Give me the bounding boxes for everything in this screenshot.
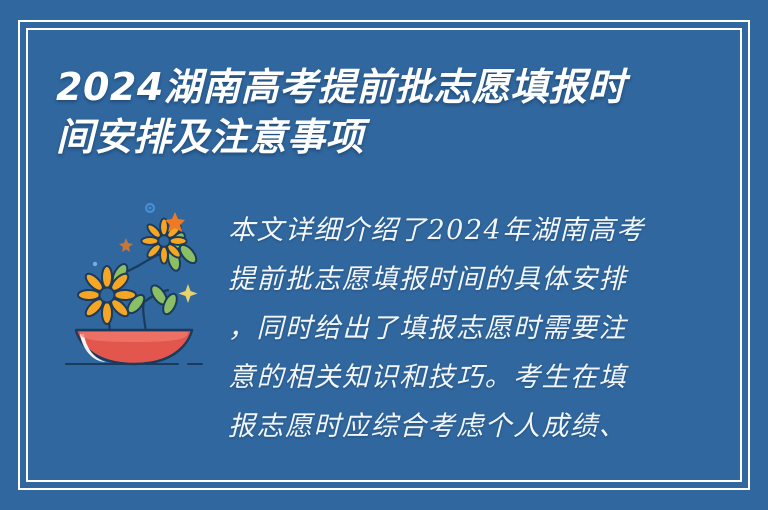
body-line-4: 意的相关知识和技巧。考生在填 <box>228 353 648 402</box>
body-line-1: 本文详细介绍了2024年湖南高考 <box>228 206 648 255</box>
page-title: 2024湖南高考提前批志愿填报时 间安排及注意事项 <box>56 62 656 162</box>
title-line-1: 2024湖南高考提前批志愿填报时 <box>56 62 656 112</box>
body-line-3: ，同时给出了填报志愿时需要注 <box>228 304 648 353</box>
poster-canvas: 2024湖南高考提前批志愿填报时 间安排及注意事项 <box>0 0 768 510</box>
potted-flowers-illustration <box>62 192 222 372</box>
body-line-2: 提前批志愿填报时间的具体安排 <box>228 255 648 304</box>
body-copy: 本文详细介绍了2024年湖南高考 提前批志愿填报时间的具体安排 ，同时给出了填报… <box>228 206 648 451</box>
title-line-2: 间安排及注意事项 <box>56 112 656 162</box>
body-line-5: 报志愿时应综合考虑个人成绩、 <box>228 402 648 451</box>
